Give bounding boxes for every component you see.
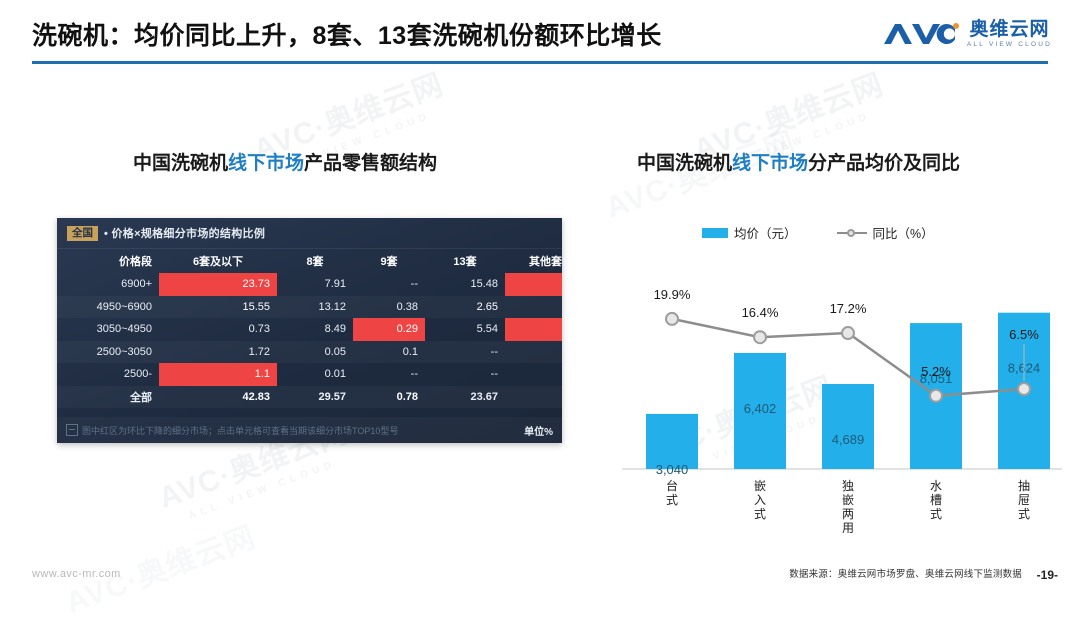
table-row-label: 2500- (57, 363, 159, 386)
legend-item-avg-price[interactable]: 均价（元） (702, 223, 797, 242)
table-caption: 全国 • 价格×规格细分市场的结构比例 (57, 218, 562, 249)
table-cell[interactable]: 8.49 (277, 318, 353, 341)
chart-trend-point[interactable] (754, 331, 766, 343)
table-cell[interactable]: 15.48 (425, 273, 505, 296)
table-cell[interactable]: 1.1 (159, 363, 277, 386)
table-col-header: 9套 (353, 249, 425, 273)
chart-bar-value: 3,040 (656, 462, 689, 477)
chart-trend-point[interactable] (930, 390, 942, 402)
table-row-label: 全部 (57, 386, 159, 409)
table-col-header: 价格段 (57, 249, 159, 273)
table-row-label: 3050~4950 (57, 318, 159, 341)
chart-category-label: 独嵌两用 (820, 479, 876, 535)
chart-legend[interactable]: 均价（元） 同比（%） (702, 223, 934, 242)
table-cell[interactable]: 0.78 (353, 386, 425, 409)
chart-category-label: 水槽式 (908, 479, 964, 521)
right-title-suffix: 分产品均价及同比 (808, 153, 960, 174)
table-note: 图中红区为环比下降的细分市场；点击单元格可查看当期该细分市场TOP10型号 (66, 424, 398, 437)
page-number: -19- (1037, 568, 1058, 582)
table-cell[interactable]: 0.26 (505, 318, 562, 341)
region-badge: 全国 (67, 226, 98, 241)
table-cell[interactable]: 0.12 (505, 296, 562, 319)
table-cell[interactable]: 13.12 (277, 296, 353, 319)
table-row[interactable]: 2500-1.10.01------1.12 (57, 363, 562, 386)
table-col-header: 6套及以下 (159, 249, 277, 273)
left-title-highlight: 线下市场 (228, 153, 304, 174)
right-section-title: 中国洗碗机线下市场分产品均价及同比 (637, 148, 960, 175)
table-col-header: 其他套数 (505, 249, 562, 273)
chart-pct-label: 19.9% (654, 287, 691, 302)
footer-url: www.avc-mr.com (32, 568, 121, 580)
avc-logo-text: 奥维云网 ALL VIEW CLOUD (967, 20, 1052, 49)
chart-category-label: 台式 (644, 479, 700, 507)
avc-logo-cn: 奥维云网 (969, 20, 1049, 39)
watermark-main: AVC·奥维云网 (602, 126, 800, 225)
retail-structure-table[interactable]: 全国 • 价格×规格细分市场的结构比例 价格段6套及以下8套9套13套其他套数全… (57, 218, 562, 443)
table-cell[interactable]: 15.55 (159, 296, 277, 319)
table-row-label: 4950~6900 (57, 296, 159, 319)
chart-bar[interactable] (822, 384, 874, 469)
info-icon (66, 424, 78, 436)
watermark: AVC·奥维云网 (58, 512, 260, 621)
table-cell[interactable]: 2.65 (425, 296, 505, 319)
table-cell[interactable]: -- (425, 341, 505, 364)
table-cell[interactable]: 0.29 (353, 318, 425, 341)
avg-price-yoy-chart: 均价（元） 同比（%） 3,0406,4024,6898,0518,62419.… (622, 215, 1062, 515)
table-unit-label: 单位% (524, 423, 553, 438)
chart-bar[interactable] (646, 414, 698, 469)
line-swatch-icon (837, 228, 867, 238)
table-caption-text: • 价格×规格细分市场的结构比例 (104, 225, 265, 241)
table-cell[interactable]: -- (425, 363, 505, 386)
avc-logo: 奥维云网 ALL VIEW CLOUD (882, 14, 1052, 54)
table-row[interactable]: 2500~30501.720.050.1----1.87 (57, 341, 562, 364)
chart-pct-label: 16.4% (742, 305, 779, 320)
chart-bar-value: 4,689 (832, 432, 865, 447)
left-title-suffix: 产品零售额结构 (304, 153, 437, 174)
table-row[interactable]: 3050~49500.738.490.295.540.2615.3 (57, 318, 562, 341)
bar-swatch-icon (702, 228, 728, 238)
chart-plot-area: 3,0406,4024,6898,0518,62419.9%16.4%17.2%… (622, 255, 1062, 515)
table-footnote: 图中红区为环比下降的细分市场；点击单元格可查看当期该细分市场TOP10型号 单位… (57, 417, 562, 443)
chart-category-label: 嵌入式 (732, 479, 788, 521)
legend-label-yoy: 同比（%） (873, 223, 934, 242)
table-cell[interactable]: 7.91 (277, 273, 353, 296)
table-cell[interactable]: -- (353, 363, 425, 386)
table-cell[interactable]: 3.15 (505, 386, 562, 409)
page-title: 洗碗机：均价同比上升，8套、13套洗碗机份额环比增长 (32, 16, 662, 52)
avc-mark-icon (882, 21, 960, 47)
chart-bar-value: 6,402 (744, 401, 777, 416)
right-title-prefix: 中国洗碗机 (637, 153, 732, 174)
chart-pct-label: 5.2% (921, 364, 951, 379)
table-cell[interactable]: 0.38 (353, 296, 425, 319)
table-cell[interactable]: 0.05 (277, 341, 353, 364)
chart-trend-point[interactable] (842, 327, 854, 339)
chart-category-label: 抽屉式 (996, 479, 1052, 521)
table-row[interactable]: 4950~690015.5513.120.382.650.1231.82 (57, 296, 562, 319)
table-cell[interactable]: 23.67 (425, 386, 505, 409)
left-section-title: 中国洗碗机线下市场产品零售额结构 (133, 148, 437, 175)
chart-trend-point[interactable] (666, 313, 678, 325)
avc-logo-en: ALL VIEW CLOUD (967, 42, 1052, 49)
table-cell[interactable]: 5.54 (425, 318, 505, 341)
table-cell[interactable]: 2.77 (505, 273, 562, 296)
table-row-label: 2500~3050 (57, 341, 159, 364)
table-cell[interactable]: 0.73 (159, 318, 277, 341)
chart-trend-point[interactable] (1018, 383, 1030, 395)
table-header-row: 价格段6套及以下8套9套13套其他套数全部 (57, 249, 562, 273)
table-cell[interactable]: 42.83 (159, 386, 277, 409)
table-cell[interactable]: 0.01 (277, 363, 353, 386)
table-row[interactable]: 6900+23.737.91--15.482.7749.89 (57, 273, 562, 296)
table-cell[interactable]: 23.73 (159, 273, 277, 296)
table-cell[interactable]: -- (353, 273, 425, 296)
watermark-sub: ALL VIEW CLOUD (167, 451, 358, 529)
table-row[interactable]: 全部42.8329.570.7823.673.15100 (57, 386, 562, 409)
table-row-label: 6900+ (57, 273, 159, 296)
legend-item-yoy[interactable]: 同比（%） (837, 223, 934, 242)
table-cell[interactable]: -- (505, 341, 562, 364)
title-divider (32, 61, 1048, 64)
table-cell[interactable]: 29.57 (277, 386, 353, 409)
left-title-prefix: 中国洗碗机 (133, 153, 228, 174)
table-cell[interactable]: 0.1 (353, 341, 425, 364)
chart-pct-label: 6.5% (1009, 327, 1039, 342)
table-col-header: 8套 (277, 249, 353, 273)
legend-label-avg-price: 均价（元） (734, 223, 797, 242)
table-note-text: 图中红区为环比下降的细分市场；点击单元格可查看当期该细分市场TOP10型号 (82, 424, 398, 437)
table-cell[interactable]: 1.72 (159, 341, 277, 364)
structure-grid: 价格段6套及以下8套9套13套其他套数全部 6900+23.737.91--15… (57, 249, 562, 408)
right-title-highlight: 线下市场 (732, 153, 808, 174)
chart-pct-label: 17.2% (830, 301, 867, 316)
table-col-header: 13套 (425, 249, 505, 273)
table-cell[interactable]: -- (505, 363, 562, 386)
footer-data-source: 数据来源：奥维云网市场罗盘、奥维云网线下监测数据 (789, 566, 1022, 580)
chart-svg: 3,0406,4024,6898,0518,62419.9%16.4%17.2%… (622, 255, 1062, 515)
